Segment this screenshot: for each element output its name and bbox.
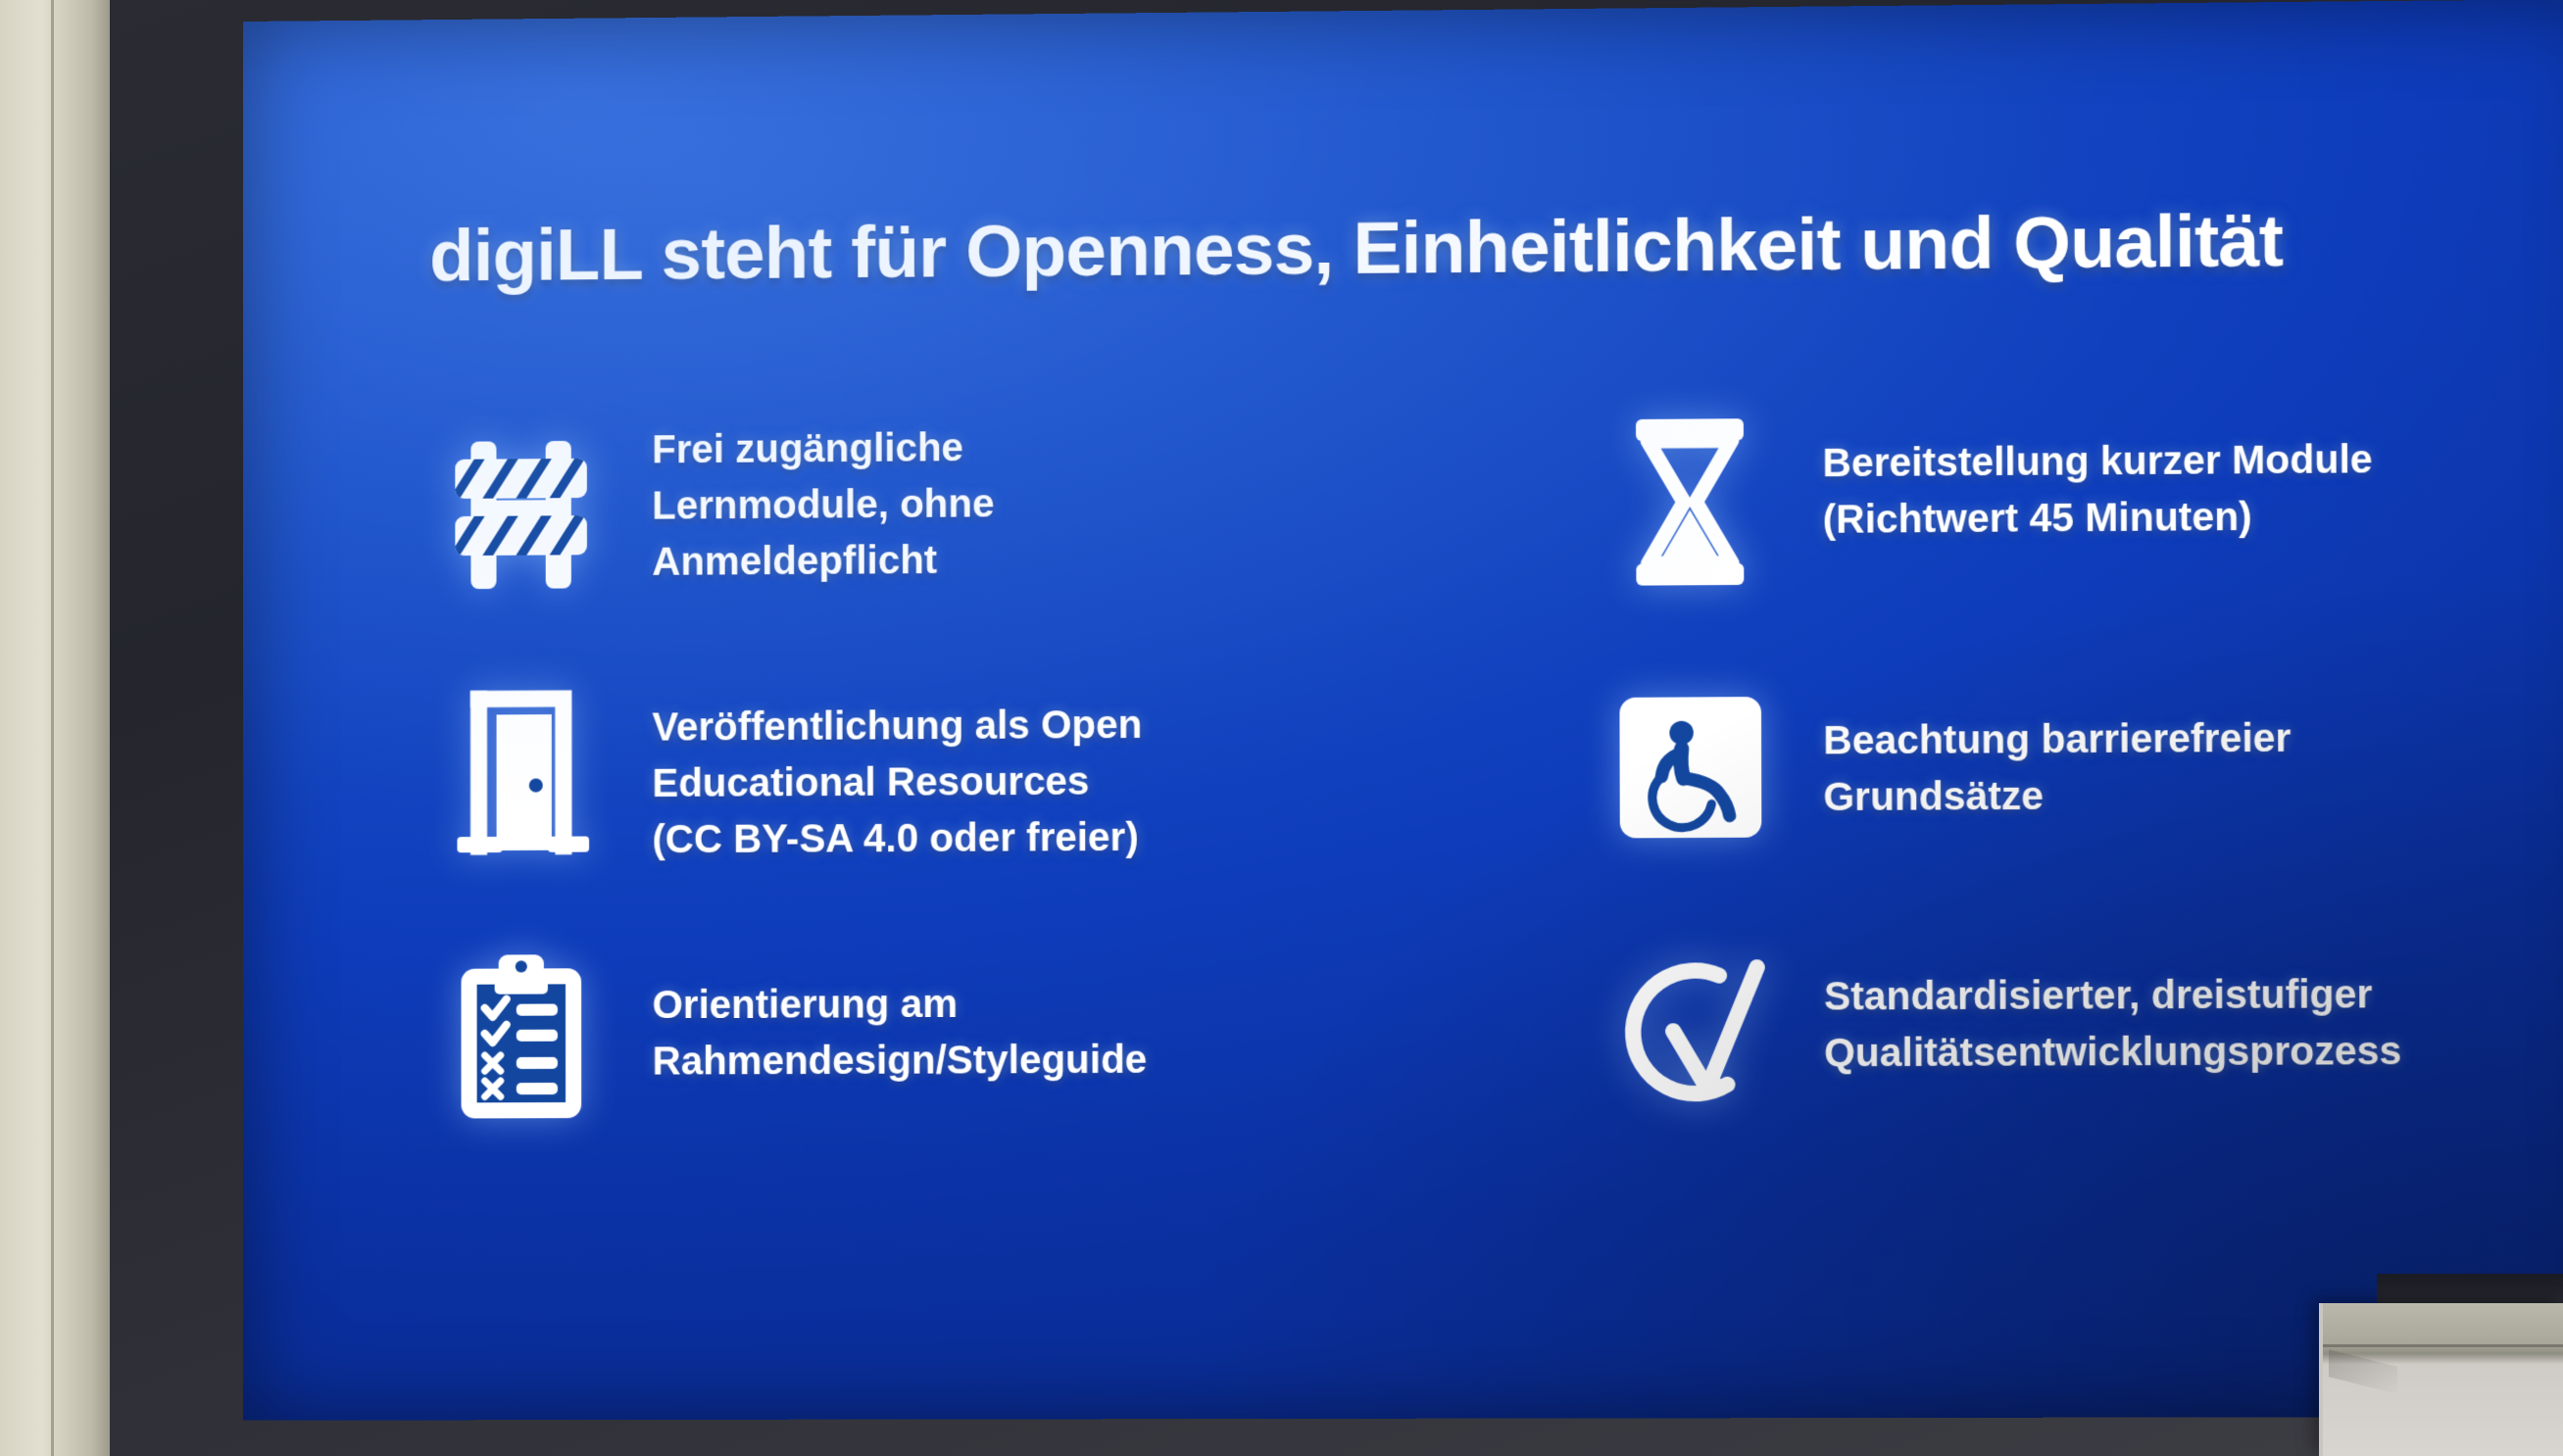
hourglass-icon bbox=[1597, 403, 1783, 602]
slide-content-grid: Frei zugängliche Lernmodule, ohne Anmeld… bbox=[429, 397, 2541, 1203]
slide-item-text: Standardisierter, dreistufiger Qualitäts… bbox=[1824, 931, 2402, 1082]
wall-strip bbox=[0, 0, 110, 1456]
slide-title: digiLL steht für Openness, Einheitlichke… bbox=[429, 199, 2477, 296]
whiteboard-foreground-object bbox=[2319, 1303, 2563, 1456]
road-barrier-icon bbox=[429, 412, 613, 609]
presentation-slide: digiLL steht für Openness, Einheitlichke… bbox=[243, 0, 2563, 1421]
whiteboard-tray bbox=[2329, 1349, 2397, 1393]
slide-item-veroeffentlichung-oer: Veröffentlichung als Open Educational Re… bbox=[429, 669, 1598, 873]
projection-screen-bezel: digiLL steht für Openness, Einheitlichke… bbox=[110, 0, 2563, 1456]
clipboard-checklist-icon bbox=[429, 939, 613, 1137]
slide-item-bereitstellung-kurzer-module: Bereitstellung kurzer Module (Richtwert … bbox=[1597, 397, 2538, 602]
circular-arrow-check-icon bbox=[1599, 934, 1785, 1133]
open-door-icon bbox=[429, 675, 613, 873]
slide-item-barrierefreiheit: Beachtung barrierefreier Grundsätze bbox=[1598, 663, 2540, 867]
slide-item-text: Orientierung am Rahmendesign/Styleguide bbox=[652, 937, 1147, 1091]
wheelchair-accessibility-icon bbox=[1598, 668, 1784, 867]
slide-item-orientierung-styleguide: Orientierung am Rahmendesign/Styleguide bbox=[429, 935, 1599, 1137]
presentation-photo-scene: digiLL steht für Openness, Einheitlichke… bbox=[0, 0, 2563, 1456]
slide-item-frei-zugaengliche-lernmodule: Frei zugängliche Lernmodule, ohne Anmeld… bbox=[429, 404, 1598, 608]
slide-item-text: Frei zugängliche Lernmodule, ohne Anmeld… bbox=[652, 409, 994, 591]
slide-item-text: Veröffentlichung als Open Educational Re… bbox=[652, 671, 1142, 867]
slide-item-text: Bereitstellung kurzer Module (Richtwert … bbox=[1822, 398, 2373, 548]
slide-item-text: Beachtung barrierefreier Grundsätze bbox=[1823, 665, 2292, 826]
slide-item-qualitaetsprozess: Standardisierter, dreistufiger Qualitäts… bbox=[1599, 930, 2541, 1132]
